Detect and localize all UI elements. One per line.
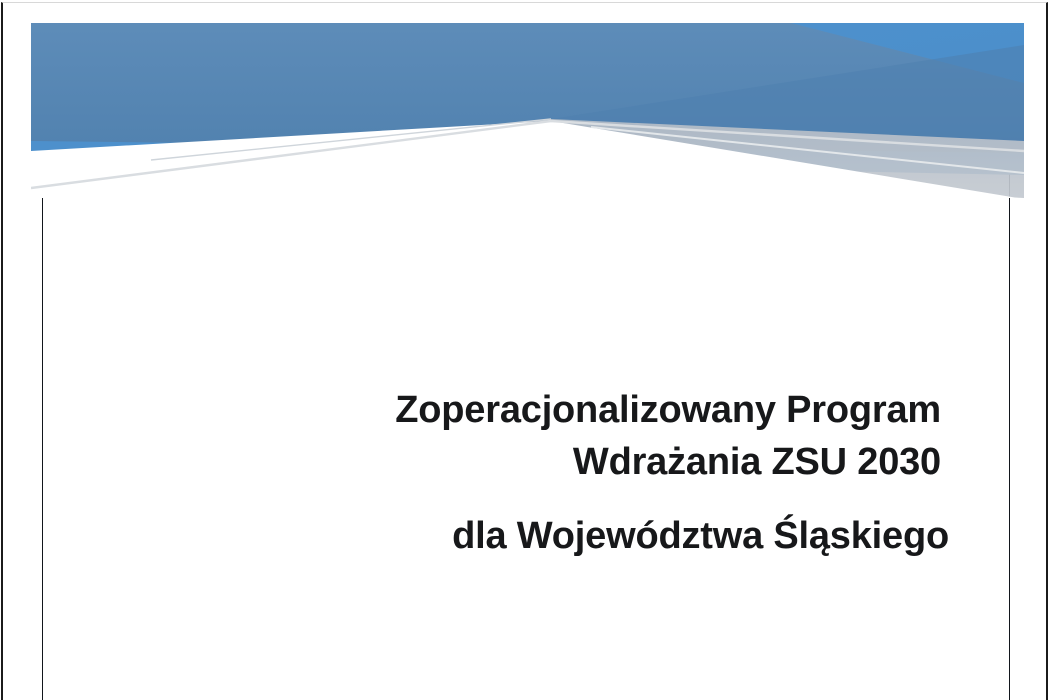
slide-title: Zoperacjonalizowany Program Wdrażania ZS… bbox=[293, 384, 941, 562]
title-line-2: Wdrażania ZSU 2030 bbox=[293, 436, 941, 488]
banner-hairline-secondary bbox=[591, 127, 1024, 173]
angular-banner-graphic bbox=[31, 23, 1024, 198]
document-page: Zoperacjonalizowany Program Wdrażania ZS… bbox=[0, 0, 1050, 700]
banner-shape-blue-light bbox=[31, 23, 1024, 175]
banner-shape-gray bbox=[151, 119, 1024, 198]
title-line-3: dla Województwa Śląskiego bbox=[293, 510, 949, 562]
banner-shape-blue-steel bbox=[551, 45, 1024, 141]
title-line-1: Zoperacjonalizowany Program bbox=[293, 384, 941, 436]
banner-shape-blue-medium bbox=[31, 23, 1024, 153]
banner-shape-white-wedge bbox=[31, 121, 1024, 198]
banner-hairline bbox=[31, 119, 1024, 188]
slide-frame: Zoperacjonalizowany Program Wdrażania ZS… bbox=[42, 33, 1010, 700]
